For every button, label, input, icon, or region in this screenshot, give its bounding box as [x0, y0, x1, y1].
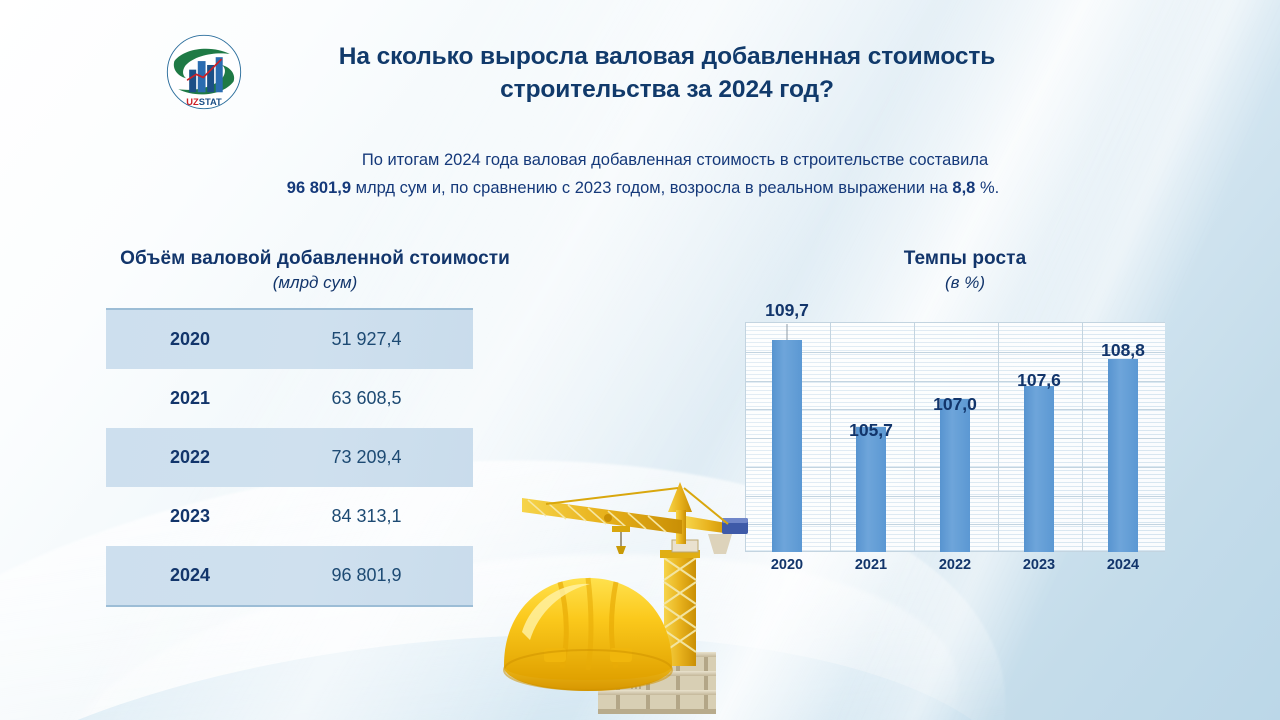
- chart-x-tick-label: 2024: [1081, 557, 1165, 573]
- chart-bar[interactable]: [940, 399, 970, 552]
- table-cell-value: 51 927,4: [274, 329, 473, 350]
- table-cell-value: 73 209,4: [274, 447, 473, 468]
- right-heading-main: Темпы роста: [770, 248, 1160, 270]
- chart-bar-group: 105,7: [829, 322, 913, 552]
- infographic-slide: UZSTAT На сколько выросла валовая добавл…: [0, 0, 1280, 720]
- table-row: 2023 84 313,1: [106, 487, 473, 546]
- table-cell-value: 63 608,5: [274, 388, 473, 409]
- intro-line-2-suffix: %.: [975, 179, 999, 197]
- table-row: 2024 96 801,9: [106, 546, 473, 605]
- chart-x-axis: 20202021202220232024: [745, 557, 1165, 573]
- svg-text:UZSTAT: UZSTAT: [186, 97, 222, 107]
- intro-value-growth: 8,8: [952, 179, 975, 197]
- chart-data-label: 107,0: [933, 394, 977, 415]
- table-cell-year: 2024: [106, 565, 274, 586]
- right-heading-unit: (в %): [770, 273, 1160, 293]
- yellow-hard-hat: [504, 578, 672, 691]
- chart-bar[interactable]: [772, 340, 802, 552]
- table-cell-year: 2022: [106, 447, 274, 468]
- chart-x-tick-label: 2020: [745, 557, 829, 573]
- page-title: На сколько выросла валовая добавленная с…: [269, 41, 1065, 107]
- gross-value-added-table: 2020 51 927,4 2021 63 608,5 2022 73 209,…: [106, 308, 473, 607]
- chart-label-leader-line: [787, 324, 788, 340]
- chart-data-label: 109,7: [765, 300, 809, 321]
- table-row: 2020 51 927,4: [106, 310, 473, 369]
- intro-line-2: 96 801,9 млрд сум и, по сравнению с 2023…: [112, 174, 1174, 202]
- left-heading-main: Объём валовой добавленной стоимости: [62, 248, 568, 270]
- intro-line-2-mid: млрд сум и, по сравнению с 2023 годом, в…: [351, 179, 952, 197]
- chart-data-label: 105,7: [849, 420, 893, 441]
- chart-x-tick-label: 2023: [997, 557, 1081, 573]
- intro-value-total: 96 801,9: [287, 179, 351, 197]
- chart-bar[interactable]: [856, 427, 886, 552]
- right-section-heading: Темпы роста (в %): [770, 248, 1160, 293]
- chart-x-tick-label: 2022: [913, 557, 997, 573]
- table-cell-year: 2021: [106, 388, 274, 409]
- chart-bar[interactable]: [1024, 386, 1054, 552]
- chart-bar-group: 109,7: [745, 322, 829, 552]
- left-heading-unit: (млрд сум): [62, 273, 568, 293]
- table-cell-value: 96 801,9: [274, 565, 473, 586]
- chart-bar-group: 107,6: [997, 322, 1081, 552]
- growth-rate-bar-chart: 109,7105,7107,0107,6108,8: [745, 322, 1165, 552]
- construction-crane-and-hardhat-illustration: [486, 462, 756, 720]
- chart-data-label: 108,8: [1101, 340, 1145, 361]
- chart-bar[interactable]: [1108, 359, 1138, 552]
- table-cell-value: 84 313,1: [274, 506, 473, 527]
- table-cell-year: 2023: [106, 506, 274, 527]
- uzstat-logo-icon: UZSTAT: [165, 33, 243, 111]
- chart-bar-group: 107,0: [913, 322, 997, 552]
- intro-paragraph: По итогам 2024 года валовая добавленная …: [112, 146, 1174, 203]
- table-row: 2021 63 608,5: [106, 369, 473, 428]
- chart-data-label: 107,6: [1017, 370, 1061, 391]
- table-cell-year: 2020: [106, 329, 274, 350]
- intro-line-1: По итогам 2024 года валовая добавленная …: [362, 151, 988, 169]
- left-section-heading: Объём валовой добавленной стоимости (млр…: [62, 248, 568, 293]
- chart-bar-group: 108,8: [1081, 322, 1165, 552]
- chart-bars-layer: 109,7105,7107,0107,6108,8: [745, 322, 1165, 552]
- slide-header: UZSTAT На сколько выросла валовая добавл…: [165, 33, 1065, 111]
- chart-x-tick-label: 2021: [829, 557, 913, 573]
- table-row: 2022 73 209,4: [106, 428, 473, 487]
